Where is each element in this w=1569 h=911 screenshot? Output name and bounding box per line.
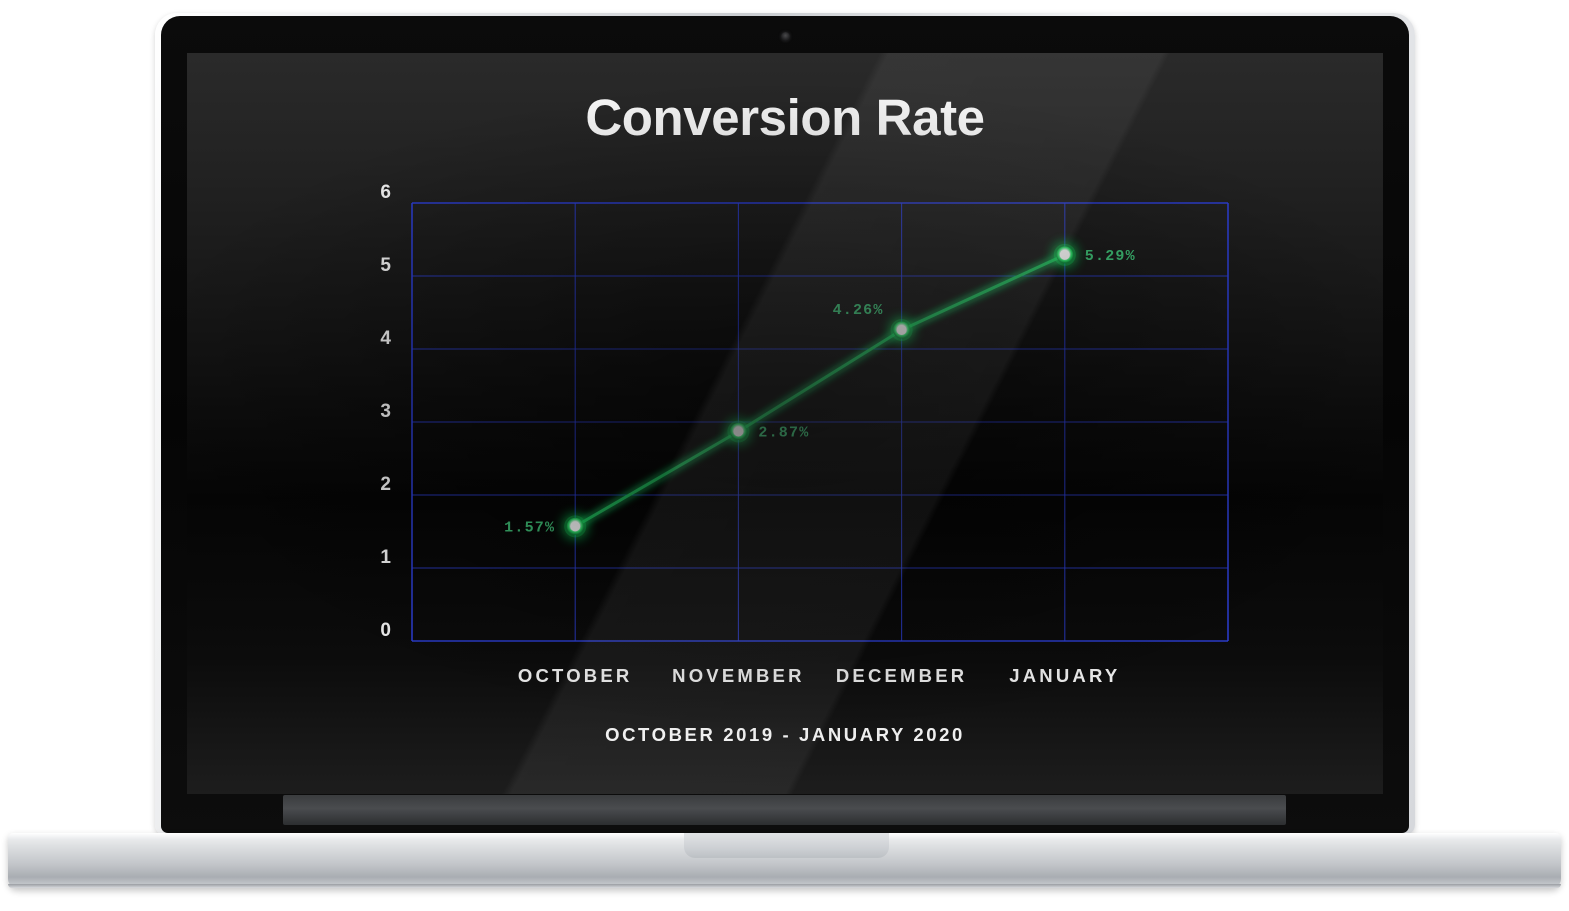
x-axis-tick-labels: OCTOBERNOVEMBERDECEMBERJANUARY xyxy=(412,665,1228,695)
data-point-core xyxy=(733,426,743,436)
x-axis-tick: JANUARY xyxy=(1009,665,1120,687)
camera-icon xyxy=(781,32,790,41)
x-axis-tick: OCTOBER xyxy=(518,665,633,687)
x-axis-tick: DECEMBER xyxy=(836,665,967,687)
laptop-base-notch xyxy=(684,833,889,858)
data-point-label: 2.87% xyxy=(758,424,809,441)
laptop-base-seam xyxy=(8,884,1561,888)
laptop-hinge xyxy=(283,795,1286,825)
chart-subtitle: OCTOBER 2019 - JANUARY 2020 xyxy=(187,724,1383,746)
data-point-label: 1.57% xyxy=(504,519,555,536)
screenshot-root: Conversion Rate 0123456 xyxy=(0,0,1569,911)
chart-point-labels: 1.57%2.87%4.26%5.29% xyxy=(504,248,1136,537)
data-point-label: 5.29% xyxy=(1085,248,1136,265)
chart-data-points xyxy=(564,244,1076,538)
chart-container: 0123456 xyxy=(187,53,1383,794)
data-point-core xyxy=(897,325,907,335)
data-point-core xyxy=(570,521,580,531)
data-point-core xyxy=(1060,250,1070,260)
chart-gridlines xyxy=(412,203,1228,641)
laptop-screen: Conversion Rate 0123456 xyxy=(187,53,1383,794)
data-point-label: 4.26% xyxy=(833,302,884,319)
series-line xyxy=(575,255,1065,527)
x-axis-tick: NOVEMBER xyxy=(672,665,805,687)
chart-series-line xyxy=(575,255,1065,527)
